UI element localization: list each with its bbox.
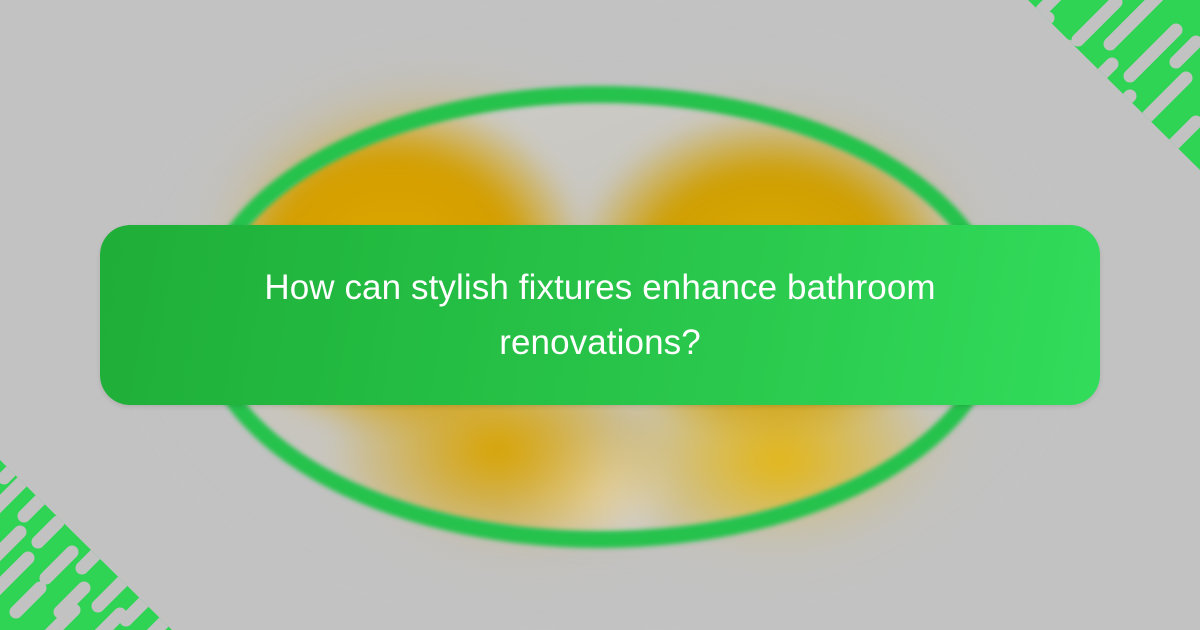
question-text: How can stylish fixtures enhance bathroo…: [220, 260, 980, 370]
share-card-canvas: How can stylish fixtures enhance bathroo…: [0, 0, 1200, 630]
question-card: How can stylish fixtures enhance bathroo…: [100, 225, 1100, 405]
